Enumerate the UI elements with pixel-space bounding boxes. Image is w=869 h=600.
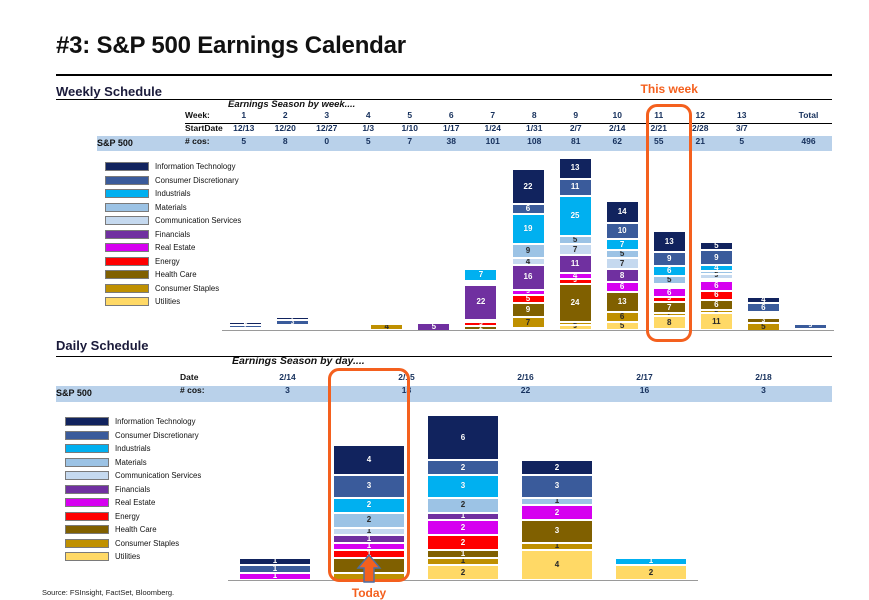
weekly-legend-label: Real Estate [155, 243, 195, 252]
weekly-legend: Information TechnologyConsumer Discretio… [105, 160, 241, 309]
bar-segment-value: 6 [620, 313, 624, 321]
weekly-sp500-label: S&P 500 [97, 138, 133, 148]
daily-caption: Earnings Season by day.... [232, 355, 365, 367]
weekly-week-9: 9 [555, 110, 597, 120]
bar-segment-value: 6 [620, 283, 624, 291]
daily-stacked-bar-chart: 11143221111216232122112231231412 [228, 415, 698, 580]
weekly-legend-item: Energy [105, 255, 241, 269]
legend-swatch-icon [65, 525, 109, 534]
daily-sp500-label: S&P 500 [56, 388, 92, 398]
weekly-cos-10: 62 [597, 136, 639, 146]
bar-segment: 5 [653, 276, 686, 284]
legend-swatch-icon [105, 203, 149, 212]
bar-segment-value: 5 [620, 250, 624, 258]
daily-legend: Information TechnologyConsumer Discretio… [65, 415, 201, 564]
daily-legend-item: Consumer Discretionary [65, 429, 201, 443]
weekly-cos-8: 108 [514, 136, 556, 146]
legend-swatch-icon [105, 176, 149, 185]
bar-segment: 8 [606, 269, 639, 282]
weekly-cos-9: 81 [555, 136, 597, 146]
bar-segment: 19 [512, 214, 545, 244]
bar-segment-value: 9 [714, 254, 718, 262]
daily-cos-2-18: 3 [704, 385, 823, 395]
daily-legend-item: Health Care [65, 523, 201, 537]
weekly-cos-13: 5 [721, 136, 763, 146]
daily-legend-label: Consumer Discretionary [115, 431, 199, 440]
bar-segment-value: 6 [714, 291, 718, 299]
bar-segment-value: 2 [461, 501, 465, 509]
weekly-startdate-5: 1/10 [389, 123, 431, 133]
weekly-week-row: Week:12345678910111213Total [185, 110, 832, 123]
daily-legend-label: Consumer Staples [115, 539, 179, 548]
stacked-bar-12: 4611135 [747, 297, 780, 330]
legend-swatch-icon [105, 284, 149, 293]
bar-segment: 2 [427, 535, 499, 550]
bar-segment: 11 [559, 255, 592, 273]
bar-segment: 3 [521, 520, 593, 543]
bar-segment-value: 19 [524, 225, 533, 233]
bar-segment-value: 3 [461, 482, 465, 490]
bar-segment-value: 1 [273, 558, 277, 566]
daily-date-2-16: 2/16 [466, 372, 585, 382]
legend-swatch-icon [105, 162, 149, 171]
weekly-week-3: 3 [306, 110, 348, 120]
daily-legend-label: Materials [115, 458, 147, 467]
bar-segment: 7 [464, 269, 497, 280]
bar-segment: 8 [653, 316, 686, 329]
weekly-week-7: 7 [472, 110, 514, 120]
daily-legend-item: Consumer Staples [65, 537, 201, 551]
weekly-legend-label: Financials [155, 230, 190, 239]
legend-swatch-icon [65, 431, 109, 440]
daily-date-label: Date [180, 372, 220, 382]
weekly-legend-item: Utilities [105, 295, 241, 309]
bar-segment: 13 [559, 158, 592, 179]
weekly-schedule-heading: Weekly Schedule [56, 84, 162, 99]
weekly-week-13: 13 [721, 110, 763, 120]
bar-segment: 1 [239, 573, 311, 581]
weekly-legend-item: Real Estate [105, 241, 241, 255]
bar-segment-value: 1 [555, 543, 559, 551]
bar-segment-value: 2 [461, 539, 465, 547]
bar-segment: 6 [606, 312, 639, 322]
weekly-week-8: 8 [514, 110, 556, 120]
weekly-week-1: 1 [223, 110, 265, 120]
bar-segment-value: 2 [555, 464, 559, 472]
weekly-startdate-13: 3/7 [721, 123, 763, 133]
daily-date-2-14: 2/14 [228, 372, 347, 382]
bar-segment: 7 [512, 317, 545, 328]
bar-segment-value: 1 [367, 528, 371, 536]
weekly-cos-11: 55 [638, 136, 680, 146]
daily-date-2-15: 2/15 [347, 372, 466, 382]
daily-legend-item: Information Technology [65, 415, 201, 429]
stacked-bar-10: 139651163728 [653, 231, 686, 330]
today-arrow-icon [356, 553, 382, 583]
weekly-legend-item: Health Care [105, 268, 241, 282]
bar-segment: 7 [653, 302, 686, 313]
daily-legend-label: Utilities [115, 552, 140, 561]
daily-legend-item: Financials [65, 483, 201, 497]
daily-legend-item: Communication Services [65, 469, 201, 483]
legend-swatch-icon [105, 230, 149, 239]
bar-segment: 3 [427, 475, 499, 498]
bar-segment-value: 2 [461, 464, 465, 472]
weekly-cos-2: 8 [265, 136, 307, 146]
weekly-week-2: 2 [265, 110, 307, 120]
weekly-total-header: Total [785, 110, 832, 120]
daily-legend-item: Materials [65, 456, 201, 470]
legend-swatch-icon [105, 257, 149, 266]
bar-segment-value: 5 [573, 236, 577, 244]
bar-segment: 3 [333, 475, 405, 498]
bar-segment-value: 4 [367, 456, 371, 464]
bar-segment: 13 [606, 292, 639, 313]
bar-segment: 3 [521, 475, 593, 498]
weekly-cos-5: 7 [389, 136, 431, 146]
bar-segment-value: 13 [571, 164, 580, 172]
bar-segment-value: 7 [667, 304, 671, 312]
bar-segment-value: 2 [367, 516, 371, 524]
weekly-legend-item: Industrials [105, 187, 241, 201]
stacked-bar-11: 594231666211 [700, 242, 733, 330]
legend-swatch-icon [65, 444, 109, 453]
daily-date-2-17: 2/17 [585, 372, 704, 382]
weekly-legend-item: Consumer Staples [105, 282, 241, 296]
bar-segment: 6 [700, 281, 733, 291]
bar-segment: 2 [427, 460, 499, 475]
bar-segment: 6 [653, 288, 686, 298]
bar-segment: 1 [239, 565, 311, 573]
legend-swatch-icon [65, 458, 109, 467]
bar-segment-value: 1 [367, 543, 371, 551]
bar-segment: 1 [333, 543, 405, 551]
bar-segment-value: 8 [667, 319, 671, 327]
weekly-startdate-3: 12/27 [306, 123, 348, 133]
weekly-startdate-11: 2/21 [638, 123, 680, 133]
daily-cos-row: # cos:31822163 [100, 385, 832, 398]
bar-segment: 6 [512, 204, 545, 214]
bar-segment: 5 [512, 295, 545, 303]
weekly-caption: Earnings Season by week.... [228, 99, 355, 110]
bar-segment: 5 [559, 236, 592, 244]
weekly-legend-label: Utilities [155, 297, 180, 306]
stacked-bar-2-14: 111 [239, 558, 311, 581]
stacked-bar-2-16: 6232122112 [427, 415, 499, 580]
stacked-bar-2-18: 12 [615, 558, 687, 581]
legend-swatch-icon [105, 189, 149, 198]
title-divider [56, 74, 832, 76]
stacked-bar-2: 23111 [276, 317, 309, 330]
bar-segment-value: 14 [618, 208, 627, 216]
bar-segment-value: 16 [524, 273, 533, 281]
daily-cos-2-14: 3 [228, 385, 347, 395]
bar-segment: 9 [653, 252, 686, 266]
bar-segment: 2 [427, 565, 499, 580]
daily-legend-item: Utilities [65, 550, 201, 564]
bar-segment: 1 [427, 550, 499, 558]
bar-segment: 1 [521, 543, 593, 551]
bar-segment-value: 6 [667, 289, 671, 297]
bar-segment: 6 [747, 303, 780, 313]
weekly-startdate-4: 1/3 [348, 123, 390, 133]
weekly-startdate-7: 1/24 [472, 123, 514, 133]
bar-segment: 4 [521, 550, 593, 580]
weekly-week-5: 5 [389, 110, 431, 120]
bar-segment: 7 [559, 244, 592, 255]
weekly-legend-item: Communication Services [105, 214, 241, 228]
daily-schedule-heading: Daily Schedule [56, 338, 148, 353]
source-note: Source: FSInsight, FactSet, Bloomberg. [42, 588, 174, 597]
stacked-bar-2-17: 2312314 [521, 460, 593, 580]
bar-segment: 6 [606, 282, 639, 292]
weekly-legend-label: Health Care [155, 270, 197, 279]
weekly-total-value: 496 [785, 136, 832, 146]
bar-segment: 1 [427, 558, 499, 566]
weekly-cos-3: 0 [306, 136, 348, 146]
bar-segment-value: 5 [667, 276, 671, 284]
bar-segment-value: 6 [714, 301, 718, 309]
weekly-cos-4: 5 [348, 136, 390, 146]
legend-swatch-icon [65, 552, 109, 561]
weekly-week-11: 11 [638, 110, 680, 120]
weekly-week-12: 12 [680, 110, 722, 120]
daily-date-2-18: 2/18 [704, 372, 823, 382]
daily-section-divider [56, 356, 832, 357]
weekly-table: Week:12345678910111213Total StartDate12/… [185, 110, 832, 149]
stacked-bar-1: 221 [229, 322, 262, 330]
legend-swatch-icon [65, 512, 109, 521]
bar-segment: 22 [464, 285, 497, 320]
bar-segment: 2 [333, 513, 405, 528]
bar-segment-value: 2 [461, 569, 465, 577]
daily-legend-label: Real Estate [115, 498, 155, 507]
bar-segment-value: 1 [461, 550, 465, 558]
bar-segment-value: 1 [555, 498, 559, 506]
bar-segment-value: 1 [273, 565, 277, 573]
weekly-cos-label: # cos: [185, 136, 225, 146]
weekly-legend-label: Materials [155, 203, 187, 212]
bar-segment: 7 [606, 258, 639, 269]
bar-segment-value: 9 [526, 247, 530, 255]
bar-segment-value: 4 [555, 561, 559, 569]
bar-segment: 6 [427, 415, 499, 460]
weekly-startdate-row: StartDate12/1312/2012/271/31/101/171/241… [185, 123, 832, 136]
daily-legend-item: Industrials [65, 442, 201, 456]
bar-segment: 5 [606, 250, 639, 258]
daily-legend-label: Financials [115, 485, 150, 494]
bar-segment-value: 3 [367, 482, 371, 490]
daily-date-row: Date2/142/152/162/172/18 [100, 372, 832, 385]
weekly-week-10: 10 [597, 110, 639, 120]
weekly-chart-baseline [222, 330, 834, 331]
bar-segment-value: 7 [620, 241, 624, 249]
this-week-label: This week [627, 82, 711, 96]
bar-segment: 7 [606, 239, 639, 250]
bar-segment-value: 7 [573, 246, 577, 254]
legend-swatch-icon [105, 243, 149, 252]
bar-segment: 13 [653, 231, 686, 252]
bar-segment-value: 1 [649, 558, 653, 566]
weekly-cos-row: # cos:5805738101108816255215496 [185, 136, 832, 149]
bar-segment-value: 11 [571, 260, 579, 268]
bar-segment-value: 5 [620, 322, 624, 330]
bar-segment-value: 13 [618, 298, 627, 306]
weekly-legend-item: Consumer Discretionary [105, 174, 241, 188]
weekly-week-6: 6 [431, 110, 473, 120]
bar-segment: 1 [427, 513, 499, 521]
weekly-legend-item: Financials [105, 228, 241, 242]
legend-swatch-icon [65, 471, 109, 480]
bar-segment: 1 [333, 528, 405, 536]
bar-segment: 1 [521, 498, 593, 506]
bar-segment-value: 5 [714, 242, 718, 250]
weekly-legend-item: Information Technology [105, 160, 241, 174]
legend-swatch-icon [65, 539, 109, 548]
bar-segment-value: 7 [479, 271, 483, 279]
weekly-legend-item: Materials [105, 201, 241, 215]
daily-legend-label: Industrials [115, 444, 151, 453]
weekly-section-divider [56, 99, 832, 100]
daily-legend-label: Health Care [115, 525, 157, 534]
daily-legend-item: Energy [65, 510, 201, 524]
bar-segment-value: 22 [476, 298, 485, 306]
bar-segment: 5 [700, 242, 733, 250]
stacked-bar-7: 22619941635971 [512, 169, 545, 330]
stacked-bar-8: 1311255711432423 [559, 158, 592, 330]
weekly-startdate-2: 12/20 [265, 123, 307, 133]
bar-segment-value: 2 [461, 524, 465, 532]
bar-segment: 25 [559, 196, 592, 236]
daily-legend-label: Information Technology [115, 417, 195, 426]
page-title: #3: S&P 500 Earnings Calendar [56, 32, 406, 60]
weekly-cos-7: 101 [472, 136, 514, 146]
bar-segment: 6 [700, 291, 733, 301]
bar-segment: 6 [700, 300, 733, 310]
bar-segment-value: 2 [649, 569, 653, 577]
daily-legend-label: Communication Services [115, 471, 201, 480]
stacked-bar-13: 131 [794, 322, 827, 330]
daily-legend-item: Real Estate [65, 496, 201, 510]
daily-cos-2-15: 18 [347, 385, 466, 395]
legend-swatch-icon [65, 417, 109, 426]
bar-segment: 11 [559, 179, 592, 197]
bar-segment: 2 [427, 498, 499, 513]
bar-segment: 10 [606, 223, 639, 239]
stacked-bar-4: 14 [370, 322, 403, 330]
daily-chart-baseline [228, 580, 698, 581]
bar-segment-value: 22 [524, 183, 533, 191]
bar-segment: 1 [333, 535, 405, 543]
bar-segment-value: 2 [555, 509, 559, 517]
stacked-bar-6: 711221321 [464, 269, 497, 330]
bar-segment: 14 [606, 201, 639, 223]
bar-segment-value: 24 [571, 299, 580, 307]
bar-segment-value: 1 [461, 558, 465, 566]
daily-cos-label: # cos: [180, 385, 220, 395]
today-label: Today [329, 586, 409, 600]
bar-segment-value: 25 [571, 212, 580, 220]
bar-segment: 9 [700, 250, 733, 264]
bar-segment-value: 6 [761, 304, 765, 312]
legend-swatch-icon [105, 297, 149, 306]
weekly-legend-label: Consumer Staples [155, 284, 219, 293]
bar-segment: 1 [615, 558, 687, 566]
bar-segment-value: 9 [526, 306, 530, 314]
daily-cos-2-16: 22 [466, 385, 585, 395]
weekly-startdate-6: 1/17 [431, 123, 473, 133]
bar-segment-value: 6 [526, 205, 530, 213]
weekly-cos-6: 38 [431, 136, 473, 146]
weekly-cos-12: 21 [680, 136, 722, 146]
bar-segment: 9 [512, 303, 545, 317]
bar-segment-value: 7 [620, 260, 624, 268]
weekly-cos-1: 5 [223, 136, 265, 146]
legend-swatch-icon [105, 216, 149, 225]
bar-segment: 5 [606, 322, 639, 330]
bar-segment: 24 [559, 284, 592, 322]
bar-segment: 2 [333, 498, 405, 513]
bar-segment-value: 2 [367, 501, 371, 509]
weekly-startdate-1: 12/13 [223, 123, 265, 133]
bar-segment: 2 [427, 520, 499, 535]
daily-legend-label: Energy [115, 512, 140, 521]
weekly-week-4: 4 [348, 110, 390, 120]
bar-segment-value: 6 [667, 267, 671, 275]
bar-segment: 2 [521, 460, 593, 475]
weekly-legend-label: Industrials [155, 189, 191, 198]
bar-segment: 2 [615, 565, 687, 580]
bar-segment: 22 [512, 169, 545, 204]
weekly-stacked-bar-chart: 2212311114115711221321226199416359711311… [222, 158, 834, 330]
weekly-legend-label: Energy [155, 257, 180, 266]
bar-segment: 1 [239, 558, 311, 566]
weekly-header-underline [185, 123, 832, 124]
legend-swatch-icon [65, 498, 109, 507]
bar-segment-value: 10 [618, 227, 627, 235]
legend-swatch-icon [105, 270, 149, 279]
bar-segment-value: 9 [667, 255, 671, 263]
bar-segment: 16 [512, 265, 545, 290]
bar-segment-value: 3 [555, 482, 559, 490]
bar-segment-value: 11 [571, 183, 579, 191]
bar-segment-value: 7 [526, 319, 530, 327]
bar-segment: 9 [512, 244, 545, 258]
daily-cos-2-17: 16 [585, 385, 704, 395]
bar-segment-value: 1 [461, 513, 465, 521]
bar-segment-value: 6 [461, 434, 465, 442]
stacked-bar-9: 1410757861365 [606, 201, 639, 330]
daily-table: Date2/142/152/162/172/18 # cos:31822163 … [100, 372, 832, 398]
bar-segment: 6 [653, 266, 686, 276]
bar-segment-value: 3 [555, 527, 559, 535]
weekly-startdate-12: 2/28 [680, 123, 722, 133]
bar-segment: 11 [700, 313, 733, 331]
bar-segment-value: 8 [620, 272, 624, 280]
bar-segment-value: 6 [714, 282, 718, 290]
bar-segment: 4 [333, 445, 405, 475]
bar-segment-value: 5 [526, 295, 530, 303]
bar-segment: 2 [521, 505, 593, 520]
weekly-startdate-9: 2/7 [555, 123, 597, 133]
bar-segment-value: 1 [367, 535, 371, 543]
bar-segment-value: 11 [712, 318, 720, 326]
bar-segment-value: 1 [273, 573, 277, 581]
legend-swatch-icon [65, 485, 109, 494]
weekly-startdate-8: 1/31 [514, 123, 556, 133]
weekly-week-label: Week: [185, 110, 225, 120]
bar-segment-value: 13 [665, 238, 674, 246]
